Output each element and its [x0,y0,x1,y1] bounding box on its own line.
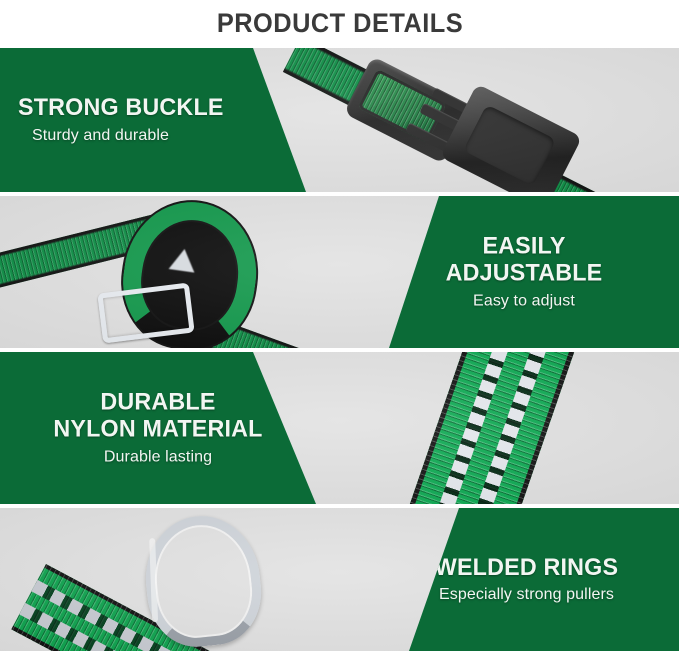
feature-row-strong-buckle: STRONG BUCKLE Sturdy and durable [0,48,679,192]
caption-strong-buckle: STRONG BUCKLE Sturdy and durable [18,95,230,145]
feature-title: STRONG BUCKLE [18,95,224,122]
feature-title: DURABLE NYLON MATERIAL [5,390,312,444]
page-title: PRODUCT DETAILS [216,8,462,39]
feature-row-easily-adjustable: EASILY ADJUSTABLE Easy to adjust [0,196,679,348]
feature-subtitle: Durable lasting [0,448,316,466]
feature-row-welded-rings: WELDED RINGS Especially strong pullers [0,508,679,651]
feature-subtitle: Easy to adjust [369,292,679,310]
caption-durable-nylon-material: DURABLE NYLON MATERIAL Durable lasting [0,390,316,467]
product-details-infographic: PRODUCT DETAILS STRONG BUCKLE Sturdy and… [0,0,679,651]
header: PRODUCT DETAILS [0,0,679,46]
webbing-closeup [330,352,679,504]
nylon-webbing-band [397,352,585,504]
feature-subtitle: Sturdy and durable [32,127,230,145]
feature-row-durable-nylon-material: DURABLE NYLON MATERIAL Durable lasting [0,352,679,504]
